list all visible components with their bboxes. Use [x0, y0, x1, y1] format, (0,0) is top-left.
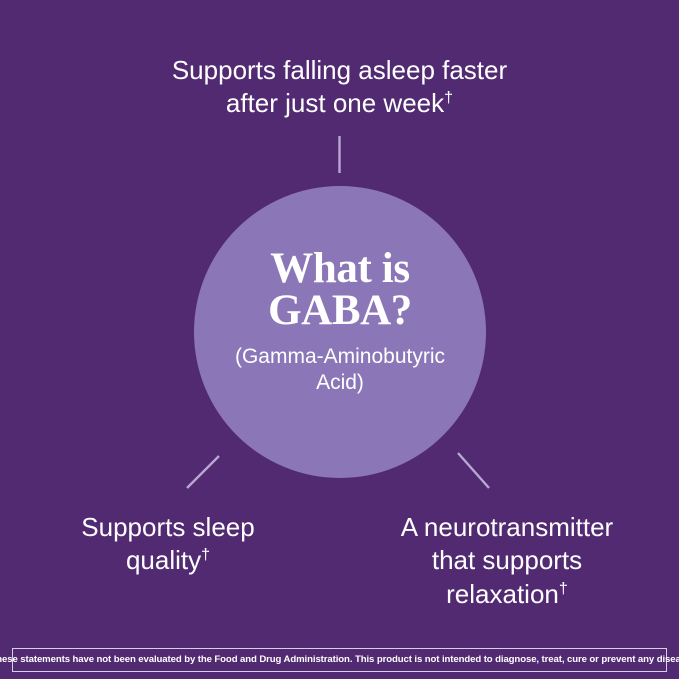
circle-title-line-2: GABA? — [268, 290, 412, 332]
circle-subtitle: (Gamma-Aminobutyric Acid) — [233, 344, 448, 395]
callout-top: Supports falling asleep faster after jus… — [0, 54, 679, 121]
circle-title-line-1: What is — [268, 248, 412, 290]
callout-bottom-right-line-2: that supports — [362, 544, 652, 577]
callout-top-line-2-text: after just one week — [226, 88, 444, 118]
connector-line-bottom-right — [458, 453, 489, 488]
callout-bottom-left-line-1: Supports sleep — [28, 511, 308, 544]
gaba-infographic: Supports falling asleep faster after jus… — [0, 0, 679, 679]
callout-top-line-2: after just one week† — [0, 87, 679, 120]
connector-line-bottom-left — [187, 456, 219, 488]
footer-disclaimer-bar: †These statements have not been evaluate… — [12, 648, 667, 672]
callout-bottom-left-line-2-text: quality — [126, 545, 201, 575]
center-circle: What is GABA? (Gamma-Aminobutyric Acid) — [194, 186, 486, 478]
callout-bottom-right-line-3: relaxation† — [362, 578, 652, 611]
callout-bottom-left-line-2: quality† — [28, 544, 308, 577]
callout-bottom-right: A neurotransmitter that supports relaxat… — [362, 511, 652, 611]
callout-bottom-left: Supports sleep quality† — [28, 511, 308, 578]
callout-top-line-1: Supports falling asleep faster — [0, 54, 679, 87]
dagger-marker-top: † — [444, 89, 453, 107]
footer-disclaimer-text: †These statements have not been evaluate… — [0, 655, 679, 665]
callout-bottom-right-line-3-text: relaxation — [446, 579, 559, 609]
circle-title: What is GABA? — [268, 248, 412, 332]
dagger-marker-bottom-left: † — [201, 546, 210, 564]
callout-bottom-right-line-1: A neurotransmitter — [362, 511, 652, 544]
dagger-marker-bottom-right: † — [559, 579, 568, 597]
